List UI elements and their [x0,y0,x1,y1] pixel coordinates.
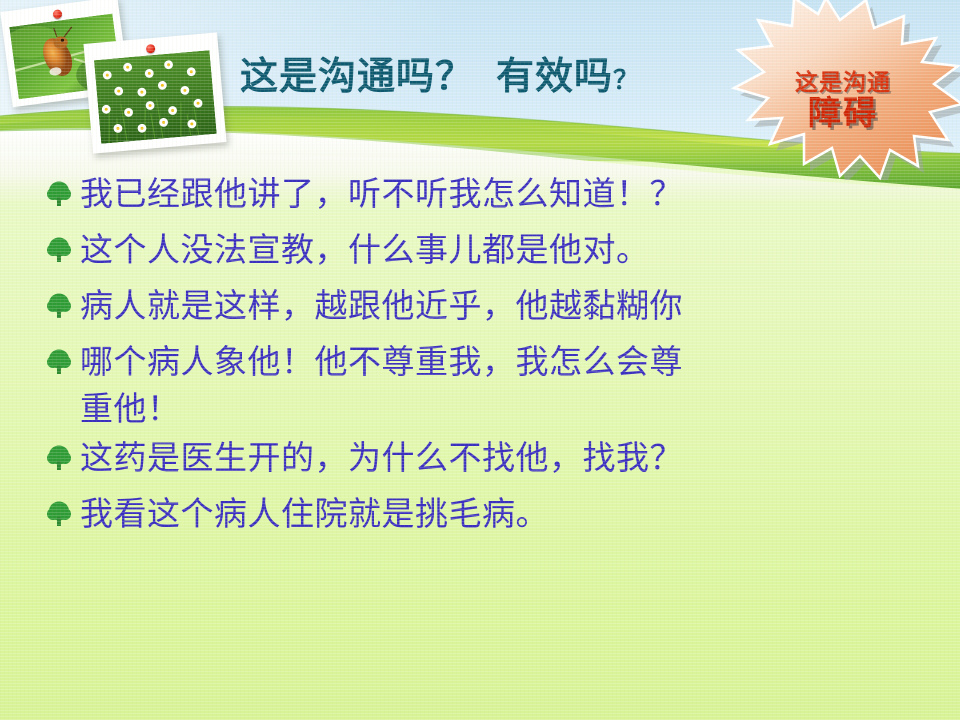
list-item-text: 哪个病人象他！他不尊重我，我怎么会尊 [80,345,683,381]
burst-callout: 这是沟通 障碍 [708,0,960,180]
list-item-text: 这个人没法宣教，什么事儿都是他对。 [80,228,650,275]
page-title: 这是沟通吗？有效吗？ [240,45,730,100]
red-pin-icon [52,9,62,19]
tree-bullet-icon [46,500,76,546]
list-item-text-wrap: 重他！ [80,387,683,434]
list-item: 这个人没法宣教，什么事儿都是他对。 [46,228,926,282]
list-item-text: 这药是医生开的，为什么不找他，找我？ [80,436,683,483]
list-item-text: 我看这个病人住院就是挑毛病。 [80,492,549,539]
tree-bullet-icon [46,348,76,394]
page-title-question-mark: ？ [613,66,640,95]
daisy-field-photo-image [94,50,217,144]
tree-bullet-icon [46,180,76,226]
tree-bullet-icon [46,292,76,338]
tree-bullet-icon [46,444,76,490]
list-item-text: 病人就是这样，越跟他近乎，他越黏糊你 [80,284,683,331]
page-title-part1: 这是沟通吗？ [240,56,474,98]
list-item-text: 我已经跟他讲了，听不听我怎么知道！？ [80,172,683,219]
list-item: 我已经跟他讲了，听不听我怎么知道！？ [46,172,926,226]
list-item: 哪个病人象他！他不尊重我，我怎么会尊重他！ [46,340,926,434]
list-item-text-group: 哪个病人象他！他不尊重我，我怎么会尊重他！ [80,340,683,434]
red-pin-icon [146,44,156,54]
slide: 这是沟通 障碍 这是沟通吗？有效吗？ 我已经跟他讲了，听不听我怎么知道！？ [0,0,960,720]
daisy-field-photo [83,32,226,153]
tree-bullet-icon [46,236,76,282]
burst-shape-icon [708,0,960,180]
page-title-part2: 有效吗 [496,56,613,98]
list-item: 这药是医生开的，为什么不找他，找我？ [46,436,926,490]
list-item: 病人就是这样，越跟他近乎，他越黏糊你 [46,284,926,338]
list-item: 我看这个病人住院就是挑毛病。 [46,492,926,546]
bullet-list: 我已经跟他讲了，听不听我怎么知道！？ 这个人没法宣教，什么事儿都是他对。 [46,172,926,548]
